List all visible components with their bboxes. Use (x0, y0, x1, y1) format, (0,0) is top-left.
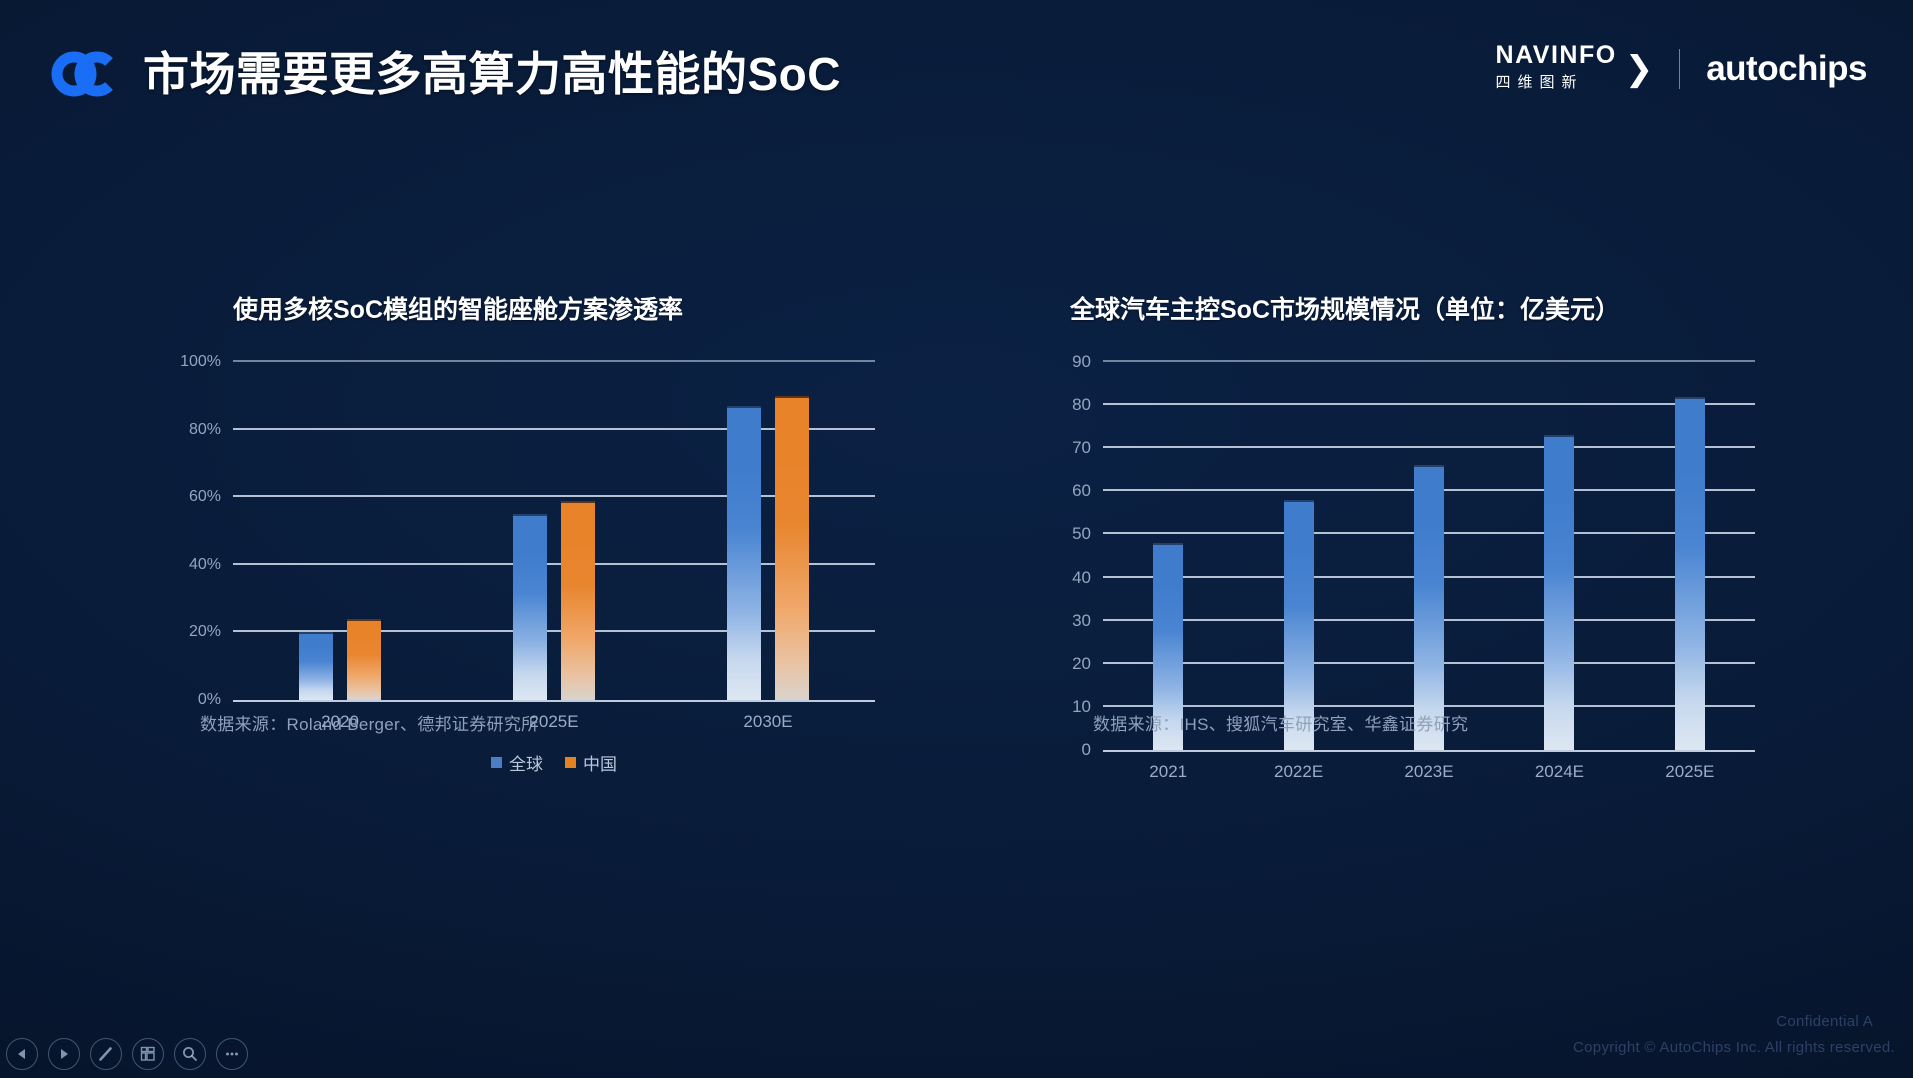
bar-2025e-2 (561, 501, 595, 700)
autochips-logo: autochips (1706, 49, 1867, 89)
bar-2025e-1 (1675, 397, 1705, 751)
chart-title-market-size: 全球汽车主控SoC市场规模情况（单位：亿美元） (1055, 290, 1755, 326)
legend-swatch-icon (491, 757, 502, 768)
chart-panel-penetration: 使用多核SoC模组的智能座舱方案渗透率 0%20%40%60%80%100% 2… (175, 290, 875, 775)
bar-group (1494, 362, 1624, 750)
bar-group (661, 362, 875, 700)
bar-2030e-1 (727, 406, 761, 700)
presentation-toolbar (6, 1038, 248, 1070)
legend-item-中国[interactable]: 中国 (565, 750, 617, 775)
y-axis-tick-label: 60% (189, 488, 221, 506)
bar-series-container (1103, 362, 1755, 750)
y-axis-tick-label: 0% (198, 691, 221, 709)
y-axis-tick-label: 80 (1072, 395, 1091, 415)
legend-label: 中国 (583, 750, 617, 775)
more-options-button[interactable] (216, 1038, 248, 1070)
triangle-right-icon (57, 1047, 71, 1061)
legend-label: 全球 (509, 750, 543, 775)
chart-title-penetration: 使用多核SoC模组的智能座舱方案渗透率 (175, 290, 875, 326)
chevron-right-icon: ❯ (1625, 52, 1654, 86)
bar-2030e-2 (775, 396, 809, 700)
copyright-label: Copyright © AutoChips Inc. All rights re… (1573, 1039, 1895, 1056)
bar-2020-2 (347, 619, 381, 700)
y-axis-tick-label: 70 (1072, 438, 1091, 458)
y-axis-tick-label: 50 (1072, 524, 1091, 544)
source-note-penetration: 数据来源：Roland Berger、德邦证券研究所 (200, 710, 538, 735)
y-axis-tick-label: 10 (1072, 697, 1091, 717)
pen-button[interactable] (90, 1038, 122, 1070)
grid-icon (139, 1045, 157, 1063)
bar-2023e-1 (1414, 465, 1444, 750)
slide-overview-button[interactable] (132, 1038, 164, 1070)
plot-market-size: 0102030405060708090 (1103, 362, 1755, 752)
bar-group (1364, 362, 1494, 750)
chart-legend-penetration: 全球中国 (175, 750, 875, 775)
bar-series-container (233, 362, 875, 700)
previous-slide-button[interactable] (6, 1038, 38, 1070)
y-axis-tick-label: 60 (1072, 481, 1091, 501)
slide-canvas: 市场需要更多高算力高性能的SoC NAVINFO 四维图新 ❯ autochip… (0, 0, 1913, 1078)
y-axis-tick-label: 0 (1082, 740, 1091, 760)
chart-panel-market-size: 全球汽车主控SoC市场规模情况（单位：亿美元） 0102030405060708… (1055, 290, 1755, 782)
x-axis-tick-label: 2023E (1364, 762, 1494, 782)
bar-group (1233, 362, 1363, 750)
slide-header: 市场需要更多高算力高性能的SoC NAVINFO 四维图新 ❯ autochip… (0, 0, 1913, 140)
x-axis-tick-label: 2025E (1625, 762, 1755, 782)
x-axis-tick-label: 2024E (1494, 762, 1624, 782)
y-axis-tick-label: 30 (1072, 611, 1091, 631)
pen-icon (97, 1045, 115, 1063)
bar-2025e-1 (513, 514, 547, 700)
plot-area-penetration: 0%20%40%60%80%100% (175, 362, 875, 702)
x-axis-tick-label: 2021 (1103, 762, 1233, 782)
bar-group (1625, 362, 1755, 750)
bar-group (1103, 362, 1233, 750)
zoom-button[interactable] (174, 1038, 206, 1070)
triangle-left-icon (15, 1047, 29, 1061)
legend-item-全球[interactable]: 全球 (491, 750, 543, 775)
y-axis-tick-label: 20% (189, 623, 221, 641)
next-slide-button[interactable] (48, 1038, 80, 1070)
page-title: 市场需要更多高算力高性能的SoC (143, 38, 841, 104)
brand-divider (1679, 49, 1680, 89)
x-axis-tick-label: 2030E (661, 712, 875, 732)
x-axis-tick-label: 2022E (1233, 762, 1363, 782)
y-axis-tick-label: 80% (189, 421, 221, 439)
plot-area-market-size: 0102030405060708090 (1055, 362, 1755, 752)
y-axis-tick-label: 90 (1072, 352, 1091, 372)
bar-group (233, 362, 447, 700)
y-axis-tick-label: 100% (180, 353, 221, 371)
navinfo-cn-label: 四维图新 (1496, 72, 1584, 95)
plot-penetration: 0%20%40%60%80%100% (233, 362, 875, 702)
navinfo-logo: NAVINFO 四维图新 ❯ (1496, 43, 1654, 95)
y-axis-tick-label: 40 (1072, 568, 1091, 588)
brand-logos: NAVINFO 四维图新 ❯ autochips (1496, 43, 1867, 95)
y-axis-tick-label: 20 (1072, 654, 1091, 674)
navinfo-en-label: NAVINFO (1496, 43, 1617, 68)
ellipsis-icon (223, 1045, 241, 1063)
legend-swatch-icon (565, 757, 576, 768)
oc-logo-icon (50, 44, 120, 104)
bar-group (447, 362, 661, 700)
y-axis-tick-label: 40% (189, 556, 221, 574)
x-axis-labels-market-size: 20212022E2023E2024E2025E (1055, 762, 1755, 782)
bar-2024e-1 (1544, 435, 1574, 750)
bar-2020-1 (299, 632, 333, 700)
magnifier-icon (181, 1045, 199, 1063)
confidential-label: Confidential A (1776, 1013, 1873, 1030)
source-note-market-size: 数据来源：IHS、搜狐汽车研究室、华鑫证券研究 (1093, 710, 1468, 735)
